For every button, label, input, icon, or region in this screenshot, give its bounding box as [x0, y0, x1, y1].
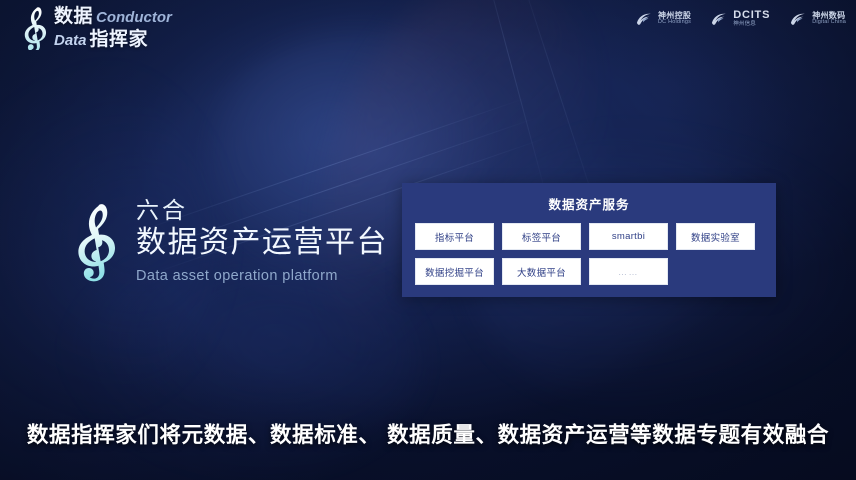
- partner-logo-dc-holdings[interactable]: 神州控股 DC Holdings: [634, 11, 691, 27]
- partner-name-en: 神州信息: [733, 22, 770, 28]
- slide-caption: 数据指挥家们将元数据、数据标准、 数据质量、数据资产运营等数据专题有效融合: [0, 418, 856, 449]
- brand-line1-cn: 数据: [54, 7, 93, 26]
- partner-logo-group: 神州控股 DC Holdings DCITS 神州信息: [634, 10, 846, 27]
- brand-logo[interactable]: 数据 Conductor Data 指挥家: [18, 6, 172, 50]
- header-bar: 数据 Conductor Data 指挥家 神州控股 DC Holdings: [0, 0, 856, 56]
- swirl-logo-icon: [634, 11, 654, 27]
- platform-title: 数据资产运营平台: [136, 223, 388, 262]
- partner-name-cn: DCITS: [733, 10, 770, 22]
- brand-line1-en: Conductor: [96, 10, 172, 25]
- service-card-grid: 指标平台 标签平台 smartbi 数据实验室 数据挖掘平台 大数据平台 ……: [402, 213, 776, 285]
- service-card-smartbi[interactable]: smartbi: [589, 223, 668, 250]
- slide-canvas: 数据 Conductor Data 指挥家 神州控股 DC Holdings: [0, 0, 856, 480]
- partner-name-en: Digital China: [812, 20, 846, 26]
- swirl-logo-icon: [709, 11, 729, 27]
- service-card-indicator-platform[interactable]: 指标平台: [415, 223, 494, 250]
- platform-eyebrow: 六合: [136, 196, 388, 225]
- partner-logo-digital-china[interactable]: 神州数码 Digital China: [788, 11, 846, 27]
- platform-title-block: 六合 数据资产运营平台 Data asset operation platfor…: [68, 186, 388, 294]
- brand-line2-cn: 指挥家: [90, 30, 149, 49]
- partner-logo-dcits[interactable]: DCITS 神州信息: [709, 10, 770, 27]
- service-card-bigdata-platform[interactable]: 大数据平台: [502, 258, 581, 285]
- panel-title: 数据资产服务: [402, 194, 776, 213]
- service-card-more[interactable]: ……: [589, 258, 668, 285]
- swirl-logo-icon: [788, 11, 808, 27]
- service-card-data-mining-platform[interactable]: 数据挖掘平台: [415, 258, 494, 285]
- treble-clef-icon: [18, 6, 52, 50]
- platform-subtitle: Data asset operation platform: [136, 268, 388, 284]
- data-asset-service-panel: 数据资产服务 指标平台 标签平台 smartbi 数据实验室 数据挖掘平台 大数…: [402, 183, 776, 297]
- brand-line2-en: Data: [54, 33, 87, 48]
- treble-clef-icon: [68, 186, 124, 294]
- partner-name-en: DC Holdings: [658, 20, 691, 26]
- service-card-data-lab[interactable]: 数据实验室: [676, 223, 755, 250]
- service-card-tag-platform[interactable]: 标签平台: [502, 223, 581, 250]
